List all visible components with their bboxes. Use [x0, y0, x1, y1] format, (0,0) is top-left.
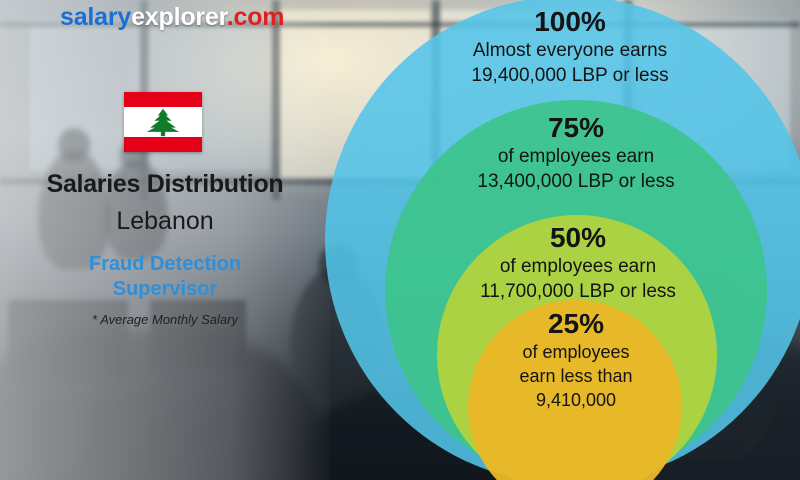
label-percentile-100: 100% Almost everyone earns 19,400,000 LB…	[400, 6, 740, 88]
desc-25-line2: earn less than	[448, 364, 704, 388]
desc-100-line1: Almost everyone earns	[400, 38, 740, 63]
desc-100-line2: 19,400,000 LBP or less	[400, 63, 740, 88]
desc-50-line1: of employees earn	[404, 254, 752, 279]
desc-75-line1: of employees earn	[400, 144, 752, 169]
percent-100: 100%	[400, 6, 740, 38]
desc-75-line2: 13,400,000 LBP or less	[400, 169, 752, 194]
screenshot-root: salaryexplorer.com Salaries Distribution…	[0, 0, 800, 480]
desc-25-line3: 9,410,000	[448, 388, 704, 412]
label-percentile-25: 25% of employees earn less than 9,410,00…	[448, 308, 704, 412]
label-percentile-75: 75% of employees earn 13,400,000 LBP or …	[400, 112, 752, 194]
desc-25-line1: of employees	[448, 340, 704, 364]
salary-distribution-chart: 100% Almost everyone earns 19,400,000 LB…	[0, 0, 800, 480]
percent-50: 50%	[404, 222, 752, 254]
percent-75: 75%	[400, 112, 752, 144]
label-percentile-50: 50% of employees earn 11,700,000 LBP or …	[404, 222, 752, 304]
desc-50-line2: 11,700,000 LBP or less	[404, 279, 752, 304]
percent-25: 25%	[448, 308, 704, 340]
